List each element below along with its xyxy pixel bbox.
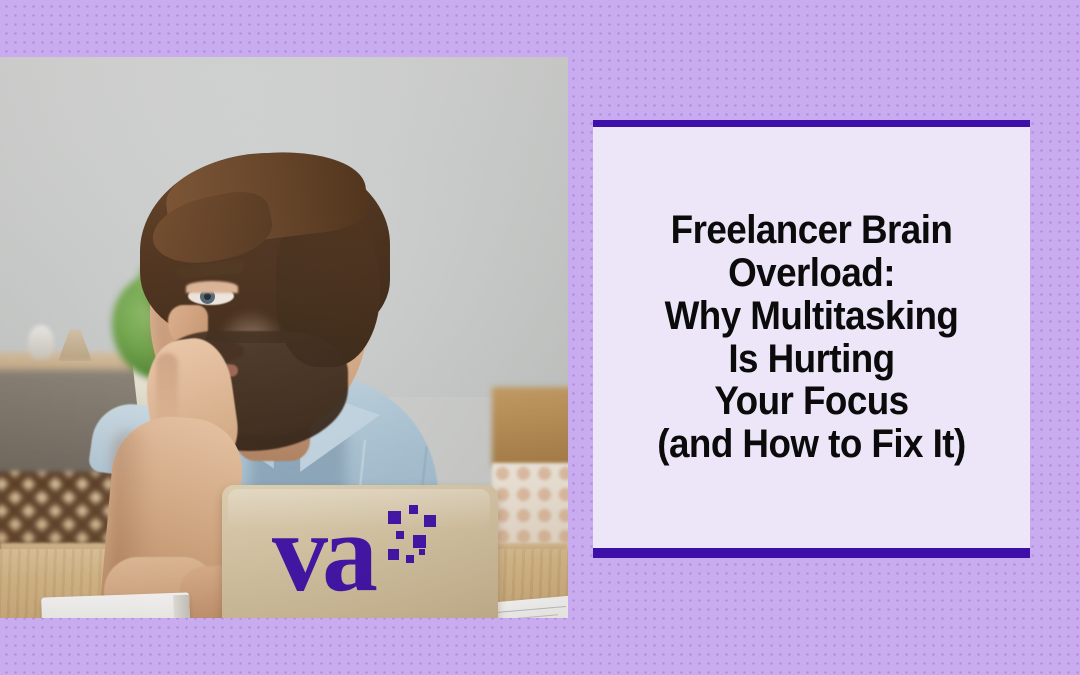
- spiral-notebook: [41, 592, 191, 618]
- headline-line: Overload:: [616, 252, 1007, 295]
- logo-pixel-icon: [406, 555, 414, 563]
- headline-line: (and How to Fix It): [616, 423, 1007, 466]
- background-shelf: [492, 387, 568, 467]
- logo-pixel-icon: [388, 549, 399, 560]
- headline-line: Freelancer Brain: [616, 209, 1007, 252]
- logo-pixel-icon: [419, 549, 425, 555]
- headline-panel: Freelancer Brain Overload: Why Multitask…: [593, 120, 1030, 558]
- logo-pixel-icon: [396, 531, 404, 539]
- logo-pixel-icon: [413, 535, 426, 548]
- notebook-page-edge: [173, 595, 191, 618]
- hero-photo: va: [0, 57, 568, 618]
- page-title: Freelancer Brain Overload: Why Multitask…: [610, 209, 1012, 466]
- logo-pixel-icon: [409, 505, 418, 514]
- logo-pixel-icon: [388, 511, 401, 524]
- va-logo-wordmark: va: [272, 497, 372, 609]
- va-logo: va: [272, 505, 452, 617]
- person-pupil: [204, 293, 211, 300]
- person-eyelid: [186, 281, 238, 293]
- headline-line: Why Multitasking: [616, 295, 1007, 338]
- logo-pixel-icon: [424, 515, 436, 527]
- headline-line: Is Hurting: [616, 338, 1007, 381]
- decor-vase: [28, 325, 54, 359]
- headline-line: Your Focus: [616, 380, 1007, 423]
- poster-canvas: va Freelancer Brain Overload: Why Multit…: [0, 0, 1080, 675]
